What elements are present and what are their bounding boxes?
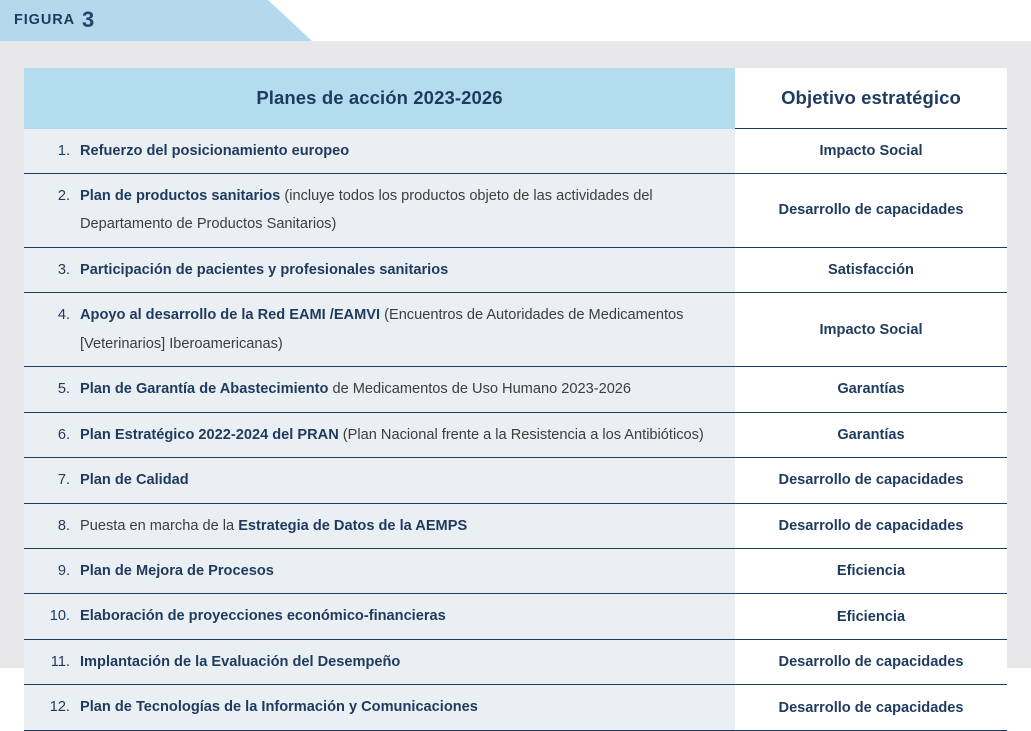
- plan-cell: 9.Plan de Mejora de Procesos: [24, 549, 735, 594]
- objective-cell: Satisfacción: [735, 247, 1007, 292]
- plan-cell: 10.Elaboración de proyecciones económico…: [24, 594, 735, 639]
- objective-cell: Desarrollo de capacidades: [735, 503, 1007, 548]
- table-header: Planes de acción 2023-2026 Objetivo estr…: [24, 68, 1007, 129]
- page-body: Planes de acción 2023-2026 Objetivo estr…: [0, 41, 1031, 668]
- table-row: 6.Plan Estratégico 2022-2024 del PRAN (P…: [24, 412, 1007, 457]
- table-header-row: Planes de acción 2023-2026 Objetivo estr…: [24, 68, 1007, 129]
- table-row: 1.Refuerzo del posicionamiento europeoIm…: [24, 129, 1007, 174]
- plan-text: Puesta en marcha de la Estrategia de Dat…: [80, 512, 721, 540]
- plan-number: 2.: [40, 182, 80, 210]
- plan-text: Plan de Mejora de Procesos: [80, 557, 721, 585]
- column-header-objective: Objetivo estratégico: [735, 68, 1007, 129]
- table-row: 12.Plan de Tecnologías de la Información…: [24, 685, 1007, 730]
- plan-cell: 4.Apoyo al desarrollo de la Red EAMI /EA…: [24, 293, 735, 367]
- plan-text: Plan de Calidad: [80, 466, 721, 494]
- plan-number: 10.: [40, 602, 80, 630]
- objective-cell: Garantías: [735, 412, 1007, 457]
- plan-text-bold: Plan Estratégico 2022-2024 del PRAN: [80, 427, 339, 443]
- plan-cell: 1.Refuerzo del posicionamiento europeo: [24, 129, 735, 174]
- plan-text-bold: Estrategia de Datos de la AEMPS: [238, 518, 467, 534]
- plan-number: 9.: [40, 557, 80, 585]
- plan-text-bold: Participación de pacientes y profesional…: [80, 262, 448, 278]
- plan-text: Refuerzo del posicionamiento europeo: [80, 137, 721, 165]
- objective-cell: Impacto Social: [735, 293, 1007, 367]
- plan-cell: 11.Implantación de la Evaluación del Des…: [24, 639, 735, 684]
- table-row: 7.Plan de CalidadDesarrollo de capacidad…: [24, 458, 1007, 503]
- plan-text-bold: Refuerzo del posicionamiento europeo: [80, 143, 349, 159]
- table-row: 2.Plan de productos sanitarios (incluye …: [24, 173, 1007, 247]
- plan-text-bold: Plan de productos sanitarios: [80, 188, 280, 204]
- plan-text-regular-after: de Medicamentos de Uso Humano 2023-2026: [328, 381, 631, 397]
- table-row: 10.Elaboración de proyecciones económico…: [24, 594, 1007, 639]
- objective-cell: Impacto Social: [735, 129, 1007, 174]
- table-row: 4.Apoyo al desarrollo de la Red EAMI /EA…: [24, 293, 1007, 367]
- objective-cell: Eficiencia: [735, 594, 1007, 639]
- plan-text-bold: Apoyo al desarrollo de la Red EAMI /EAMV…: [80, 307, 380, 323]
- plan-cell: 8.Puesta en marcha de la Estrategia de D…: [24, 503, 735, 548]
- plan-text-bold: Elaboración de proyecciones económico-fi…: [80, 608, 446, 624]
- plan-cell: 6.Plan Estratégico 2022-2024 del PRAN (P…: [24, 412, 735, 457]
- plan-cell: 12.Plan de Tecnologías de la Información…: [24, 685, 735, 730]
- plan-cell: 7.Plan de Calidad: [24, 458, 735, 503]
- table-row: 3.Participación de pacientes y profesion…: [24, 247, 1007, 292]
- plan-text-bold: Plan de Garantía de Abastecimiento: [80, 381, 328, 397]
- figure-banner: FIGURA 3: [0, 0, 1031, 41]
- plan-number: 4.: [40, 301, 80, 329]
- figure-word: FIGURA: [14, 13, 75, 28]
- plan-cell: 5.Plan de Garantía de Abastecimiento de …: [24, 367, 735, 412]
- plan-text: Plan de Tecnologías de la Información y …: [80, 693, 721, 721]
- plan-number: 6.: [40, 421, 80, 449]
- plan-cell: 2.Plan de productos sanitarios (incluye …: [24, 173, 735, 247]
- plan-number: 5.: [40, 375, 80, 403]
- plan-number: 3.: [40, 256, 80, 284]
- table-row: 9.Plan de Mejora de ProcesosEficiencia: [24, 549, 1007, 594]
- column-header-plan: Planes de acción 2023-2026: [24, 68, 735, 129]
- objective-cell: Desarrollo de capacidades: [735, 685, 1007, 730]
- plan-number: 1.: [40, 137, 80, 165]
- plan-text-bold: Plan de Mejora de Procesos: [80, 563, 274, 579]
- plan-text: Plan de Garantía de Abastecimiento de Me…: [80, 375, 721, 403]
- table-row: 5.Plan de Garantía de Abastecimiento de …: [24, 367, 1007, 412]
- objective-cell: Desarrollo de capacidades: [735, 639, 1007, 684]
- table-row: 11.Implantación de la Evaluación del Des…: [24, 639, 1007, 684]
- action-plans-table: Planes de acción 2023-2026 Objetivo estr…: [24, 68, 1007, 731]
- table-row: 8.Puesta en marcha de la Estrategia de D…: [24, 503, 1007, 548]
- plan-text: Apoyo al desarrollo de la Red EAMI /EAMV…: [80, 301, 721, 358]
- objective-cell: Desarrollo de capacidades: [735, 173, 1007, 247]
- plan-text: Implantación de la Evaluación del Desemp…: [80, 648, 721, 676]
- plan-text: Participación de pacientes y profesional…: [80, 256, 721, 284]
- plan-text: Plan de productos sanitarios (incluye to…: [80, 182, 721, 239]
- plan-number: 7.: [40, 466, 80, 494]
- objective-cell: Desarrollo de capacidades: [735, 458, 1007, 503]
- plan-text: Plan Estratégico 2022-2024 del PRAN (Pla…: [80, 421, 721, 449]
- objective-cell: Eficiencia: [735, 549, 1007, 594]
- plan-text-regular-before: Puesta en marcha de la: [80, 518, 238, 534]
- plan-number: 11.: [40, 648, 80, 676]
- plan-cell: 3.Participación de pacientes y profesion…: [24, 247, 735, 292]
- objective-cell: Garantías: [735, 367, 1007, 412]
- figure-banner-label: FIGURA 3: [14, 0, 94, 41]
- figure-number: 3: [82, 9, 94, 31]
- plan-number: 8.: [40, 512, 80, 540]
- plan-text: Elaboración de proyecciones económico-fi…: [80, 602, 721, 630]
- plan-text-bold: Plan de Tecnologías de la Información y …: [80, 699, 478, 715]
- plan-number: 12.: [40, 693, 80, 721]
- plan-text-bold: Plan de Calidad: [80, 472, 189, 488]
- table-body: 1.Refuerzo del posicionamiento europeoIm…: [24, 129, 1007, 731]
- plan-text-regular-after: (Plan Nacional frente a la Resistencia a…: [339, 427, 704, 443]
